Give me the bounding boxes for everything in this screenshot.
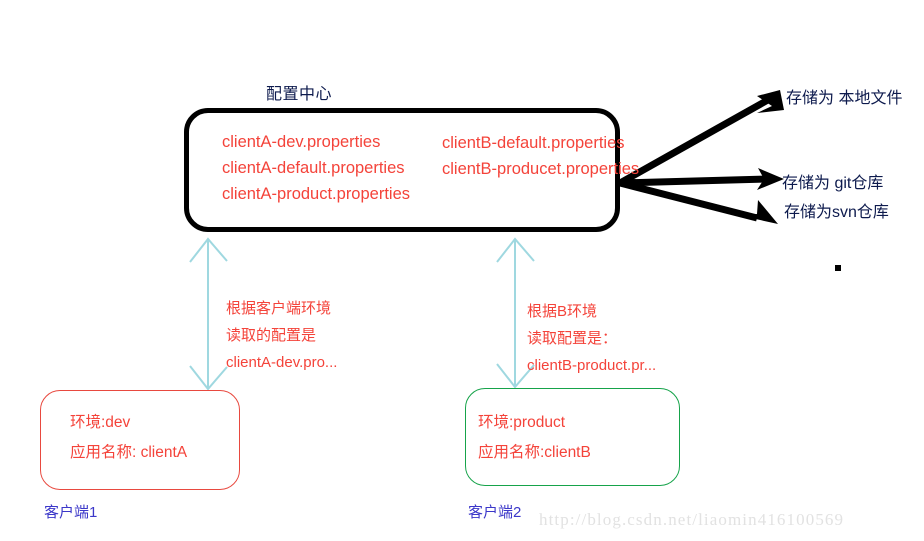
property-item: clientB-default.properties (442, 130, 639, 156)
storage-arrow-local (620, 96, 775, 183)
watermark-url: http://blog.csdn.net/liaomin416100569 (539, 510, 844, 530)
config-center-title: 配置中心 (266, 80, 332, 104)
annotation-clientb: 根据B环境 读取配置是： clientB-product.pr... (527, 298, 656, 379)
annotation-clienta: 根据客户端环境 读取的配置是 clientA-dev.pro... (226, 295, 337, 376)
annotation-line: 根据客户端环境 (226, 295, 337, 322)
storage-arrow-svn (620, 183, 757, 218)
annotation-line: 根据B环境 (527, 298, 656, 325)
client-detail-line: 应用名称: clientA (70, 438, 187, 468)
client-detail-line: 环境:dev (70, 408, 187, 438)
client-a-caption: 客户端1 (44, 501, 97, 522)
storage-arrow-git (620, 179, 766, 183)
config-properties-column-a: clientA-dev.properties clientA-default.p… (222, 129, 410, 207)
bullet-dot-marker (835, 265, 841, 271)
client-b-details: 环境:product 应用名称:clientB (478, 408, 591, 468)
annotation-line: clientB-product.pr... (527, 352, 656, 379)
property-item: clientA-product.properties (222, 181, 410, 207)
client-b-caption: 客户端2 (468, 501, 521, 522)
storage-arrow-svn-head (742, 200, 778, 224)
storage-arrow-local-head (757, 90, 784, 113)
storage-label-svn: 存储为svn仓库 (784, 198, 889, 222)
property-item: clientB-producet.properties (442, 156, 639, 182)
config-properties-column-b: clientB-default.properties clientB-produ… (442, 130, 639, 182)
property-item: clientA-dev.properties (222, 129, 410, 155)
client-detail-line: 环境:product (478, 408, 591, 438)
storage-label-git: 存储为 git仓库 (782, 169, 883, 193)
annotation-line: clientA-dev.pro... (226, 349, 337, 376)
storage-label-local: 存储为 本地文件 (786, 84, 902, 108)
storage-arrow-git-head (757, 168, 784, 190)
property-item: clientA-default.properties (222, 155, 410, 181)
annotation-line: 读取的配置是 (226, 322, 337, 349)
diagram-canvas: 配置中心 clientA-dev.properties clientA-defa… (0, 0, 924, 541)
link-arrow-clienta (190, 239, 227, 389)
client-a-details: 环境:dev 应用名称: clientA (70, 408, 187, 468)
annotation-line: 读取配置是： (527, 325, 656, 352)
client-detail-line: 应用名称:clientB (478, 438, 591, 468)
